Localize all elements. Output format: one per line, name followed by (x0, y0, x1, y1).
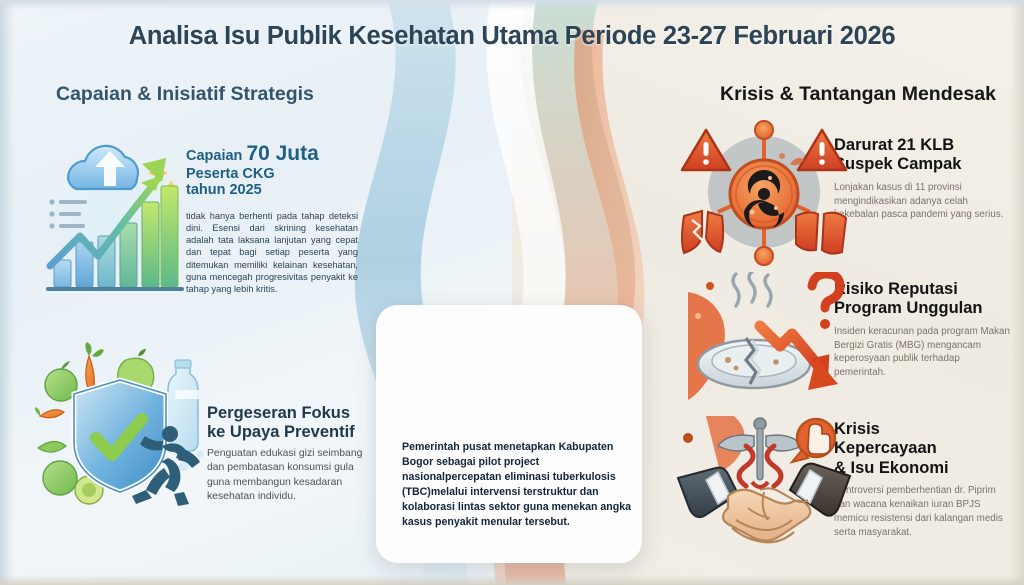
crisis-2-heading-line2: Program Unggulan (834, 299, 1010, 318)
page-title: Analisa Isu Publik Kesehatan Utama Perio… (0, 22, 1024, 51)
handshake-caduceus-icon (676, 416, 852, 562)
achievement-2-body: Penguatan edukasi gizi seimbang dan pemb… (207, 447, 375, 504)
crisis-2-heading-line1: Risiko Reputasi (834, 280, 1010, 299)
crisis-1-body: Lonjakan kasus di 11 provinsi mengindika… (834, 181, 1010, 223)
achievement-1-heading-line2: Peserta CKG (186, 166, 358, 182)
crisis-3-body: Kontroversi pemberhentian dr. Piprim dan… (834, 484, 1010, 540)
right-edge-shade (1010, 0, 1024, 585)
right-section-heading: Krisis & Tantangan Mendesak (720, 83, 996, 106)
achievement-1-heading-pre: Capaian (186, 148, 246, 164)
growth-chart-cloud-icon (34, 118, 192, 298)
top-edge-shade (0, 0, 1024, 10)
achievement-2-heading-line2: ke Upaya Preventif (207, 423, 375, 442)
biohazard-warning-icon (678, 112, 850, 276)
crisis-card-1: Darurat 21 KLB Suspek Campak Lonjakan ka… (834, 136, 1010, 222)
crisis-1-heading-line2: Suspek Campak (834, 155, 1010, 174)
crisis-1-heading-line1: Darurat 21 KLB (834, 136, 1010, 155)
crisis-3-heading-line1: Krisis (834, 420, 1010, 439)
nutrition-shield-icon (34, 338, 216, 520)
crisis-card-3: Krisis Kepercayaan & Isu Ekonomi Kontrov… (834, 420, 1010, 540)
achievement-card-2: Pergeseran Fokus ke Upaya Preventif Peng… (207, 404, 375, 504)
achievement-1-highlight: 70 Juta (246, 142, 318, 165)
crisis-3-heading-line3: & Isu Ekonomi (834, 459, 1010, 478)
crisis-2-body: Insiden keracunan pada program Makan Ber… (834, 325, 1010, 381)
crisis-3-heading-line2: Kepercayaan (834, 439, 1010, 458)
broken-plate-decline-icon (688, 272, 852, 406)
achievement-1-heading-line3: tahun 2025 (186, 182, 358, 198)
achievement-card-1: Capaian 70 Juta Peserta CKG tahun 2025 t… (186, 142, 358, 295)
left-section-heading: Capaian & Inisiatif Strategis (56, 83, 314, 106)
bottom-edge-shade (0, 575, 1024, 585)
achievement-2-heading-line1: Pergeseran Fokus (207, 404, 375, 423)
achievement-1-body: tidak hanya berhenti pada tahap deteksi … (186, 210, 358, 295)
left-edge-shade (0, 0, 14, 585)
infographic-canvas: Analisa Isu Publik Kesehatan Utama Perio… (0, 0, 1024, 585)
center-card-body: Pemerintah pusat menetapkan Kabupaten Bo… (402, 440, 640, 530)
crisis-card-2: Risiko Reputasi Program Unggulan Insiden… (834, 280, 1010, 380)
